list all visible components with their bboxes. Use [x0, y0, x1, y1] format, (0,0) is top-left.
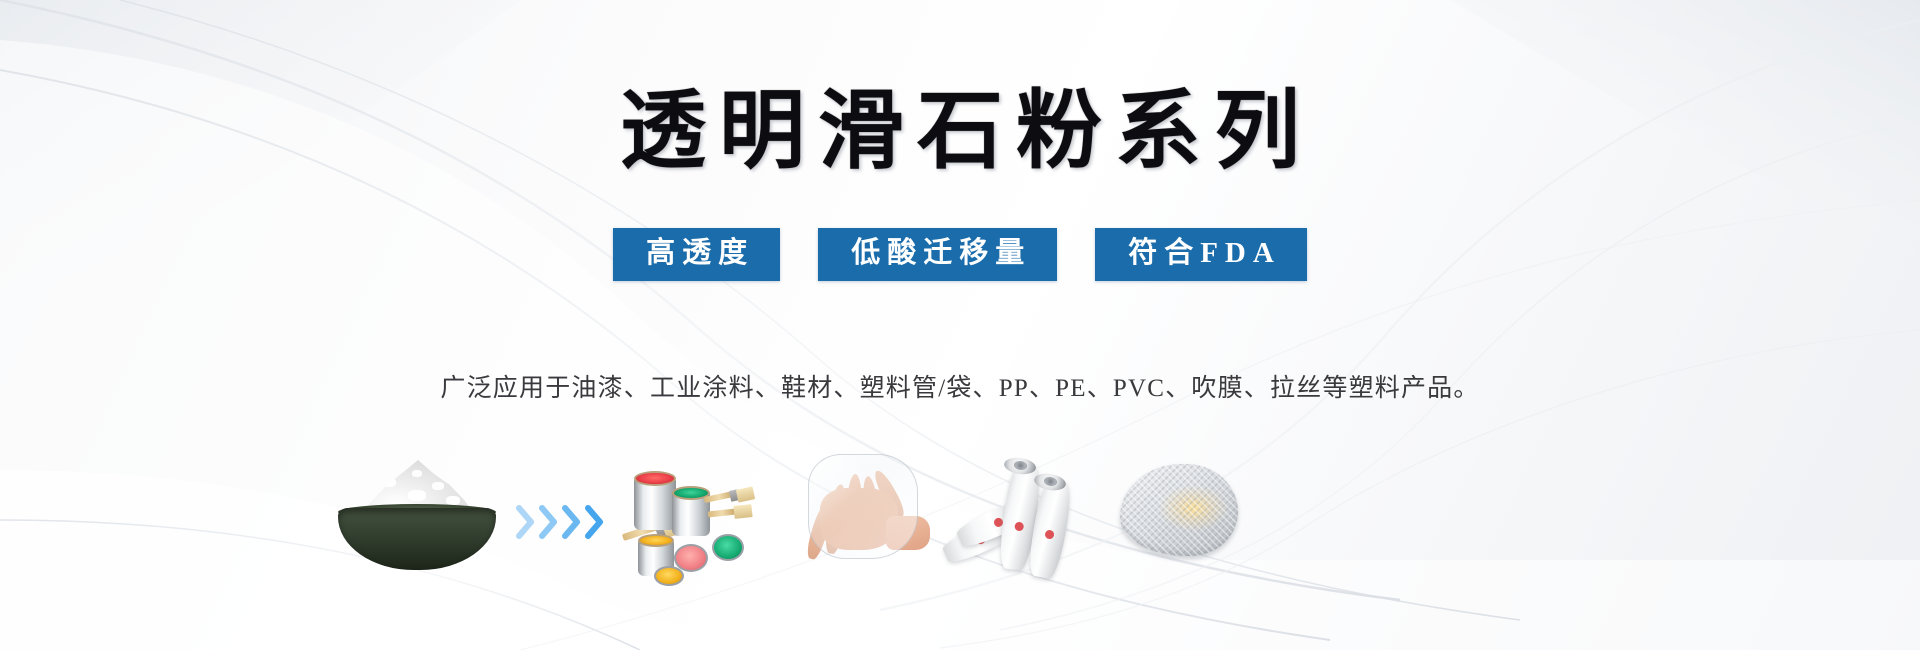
paint-brush-bristles-right-2 — [733, 504, 752, 519]
talc-powder-bowl-image — [330, 458, 505, 573]
process-arrows — [516, 502, 606, 542]
shoe-sole-image — [1120, 458, 1240, 568]
plastic-glove-hand-image — [782, 446, 927, 576]
chevron-right-icon-1 — [516, 505, 536, 539]
feature-badge-low-acid-migration: 低酸迁移量 — [818, 228, 1057, 281]
chevron-right-icon-4 — [585, 505, 605, 539]
feature-badge-high-transparency: 高透度 — [613, 228, 780, 281]
paint-can-yellow-top — [638, 534, 674, 547]
feature-badge-fda-compliant: 符合FDA — [1095, 228, 1307, 281]
plastic-film-rolls-image — [942, 448, 1082, 580]
paint-lid-yellow — [654, 566, 684, 586]
paint-cans-image — [620, 440, 760, 585]
page-title: 透明滑石粉系列 — [0, 88, 1920, 174]
wrist — [886, 516, 930, 550]
bowl — [338, 508, 496, 570]
shoe-sole-mesh-texture — [1120, 464, 1238, 556]
feature-badge-row: 高透度 低酸迁移量 符合FDA — [0, 228, 1920, 281]
product-image-strip — [330, 440, 1230, 585]
paint-brush-handle-right-2 — [708, 509, 736, 518]
shoe-sole-body — [1120, 464, 1238, 556]
chevron-right-icon-3 — [562, 505, 582, 539]
paint-lid-green — [712, 534, 744, 561]
paint-brush-bristles-right — [736, 486, 755, 502]
chevron-right-icon-2 — [539, 505, 559, 539]
product-banner: 透明滑石粉系列 高透度 低酸迁移量 符合FDA 广泛应用于油漆、工业涂料、鞋材、… — [0, 0, 1920, 650]
application-description: 广泛应用于油漆、工业涂料、鞋材、塑料管/袋、PP、PE、PVC、吹膜、拉丝等塑料… — [0, 368, 1920, 404]
paint-can-red-top — [634, 471, 676, 486]
